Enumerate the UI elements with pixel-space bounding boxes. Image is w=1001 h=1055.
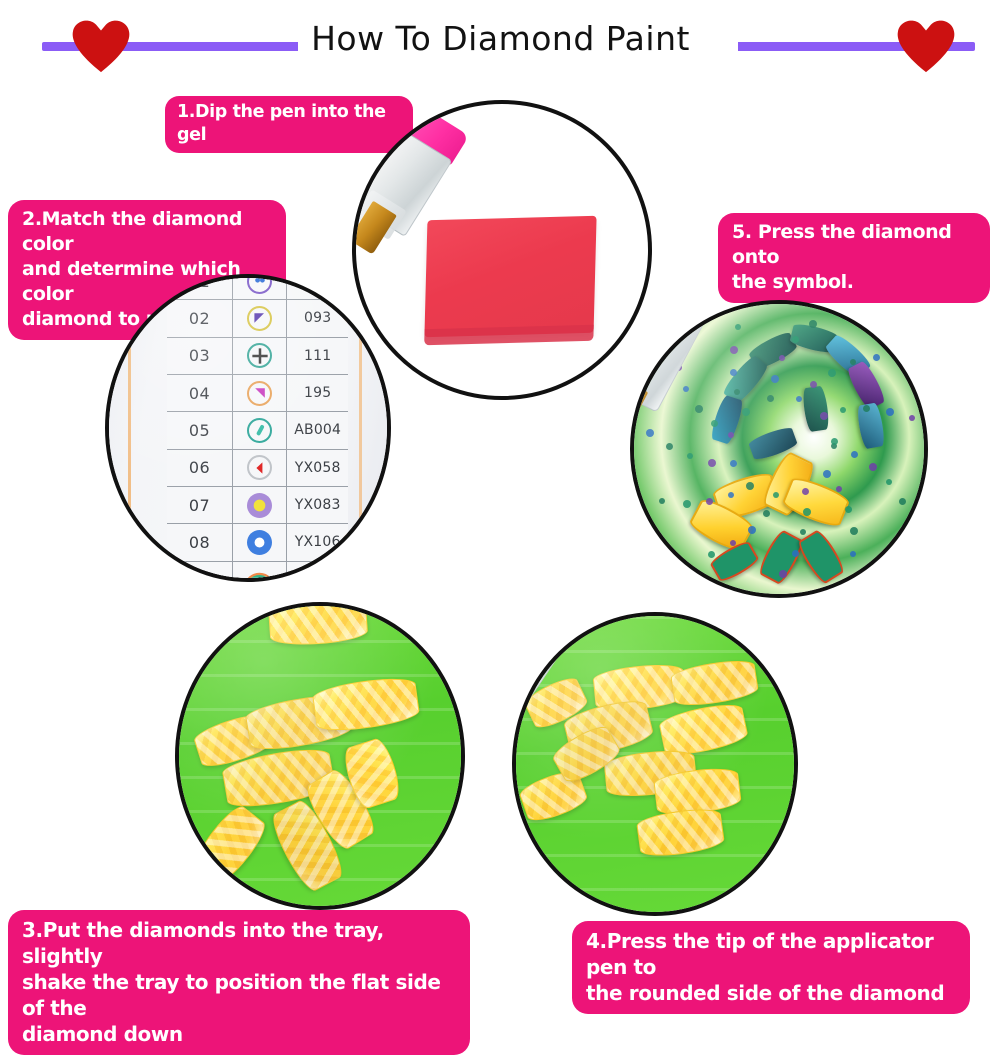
mandala-gem xyxy=(780,473,851,530)
triangle-symbol xyxy=(247,381,272,406)
printed-symbol-dot xyxy=(687,453,693,459)
gem-facets xyxy=(269,602,368,646)
printed-symbol-dot xyxy=(763,510,770,517)
printed-symbol-dot xyxy=(809,320,817,328)
printed-symbol-dot xyxy=(836,486,842,492)
printed-symbol-dot xyxy=(909,415,915,421)
printed-symbol-dot xyxy=(899,498,906,505)
printed-symbol-dot xyxy=(728,432,734,438)
gem-facets xyxy=(670,658,758,709)
printed-symbol-dot xyxy=(666,443,673,450)
printed-symbol-dot xyxy=(869,463,877,471)
printed-symbol-dot xyxy=(779,570,787,578)
printed-symbol-dot xyxy=(708,459,716,467)
printed-symbol-dot xyxy=(831,438,838,445)
diamond-gem xyxy=(669,657,760,710)
printed-symbol-dot xyxy=(840,407,846,413)
double-dot-symbol xyxy=(247,274,272,294)
printed-symbol-dot xyxy=(792,550,799,557)
chart-row-symbol-cell xyxy=(233,274,288,299)
chart-row-symbol-cell xyxy=(233,375,288,411)
printed-symbol-dot xyxy=(886,479,892,485)
chart-edge-right-2 xyxy=(359,278,362,578)
chart-row-number: 06 xyxy=(167,450,232,486)
photo-pen-picks-diamond xyxy=(512,612,798,916)
color-chart-row: 04195 xyxy=(167,375,348,412)
chart-row-symbol-cell xyxy=(233,524,288,560)
printed-symbol-dot xyxy=(851,451,858,458)
printed-symbol-dot xyxy=(771,375,779,383)
printed-symbol-dot xyxy=(730,346,738,354)
infographic-canvas: How To Diamond Paint 1.Dip the pen into … xyxy=(0,0,1001,1001)
chart-row-symbol-cell xyxy=(233,338,288,374)
printed-symbol-dot xyxy=(796,396,802,402)
color-chart-sheet: 0102002093031110419505AB00406YX05807YX08… xyxy=(109,278,387,578)
gem-facets xyxy=(313,675,420,734)
chart-row-number: 03 xyxy=(167,338,232,374)
diamond-tray xyxy=(179,606,461,906)
printed-symbol-dot xyxy=(708,551,715,558)
chart-row-number: 01 xyxy=(167,274,232,299)
chart-row-code: AB004 xyxy=(287,422,348,438)
chart-row-number: 05 xyxy=(167,412,232,448)
chart-row-code: YX106 xyxy=(287,534,348,550)
photo-pen-into-gel xyxy=(352,100,652,400)
color-chart-row: 01020 xyxy=(167,274,348,300)
chart-row-symbol-cell xyxy=(233,300,288,336)
printed-symbol-dot xyxy=(730,540,736,546)
mandala-gem xyxy=(801,385,830,431)
printed-symbol-dot xyxy=(683,500,691,508)
plus-symbol xyxy=(247,343,272,368)
printed-symbol-dot xyxy=(800,529,806,535)
color-chart-row: 07YX083 xyxy=(167,487,348,524)
chart-row-code: YX125 xyxy=(287,572,348,582)
mandala-gem xyxy=(855,402,885,449)
chart-row-code: YX058 xyxy=(287,460,348,476)
diamond-gem xyxy=(268,602,369,647)
color-chart-row: 06YX058 xyxy=(167,450,348,487)
diamond-gem xyxy=(190,801,271,887)
page-title: How To Diamond Paint xyxy=(0,17,1001,61)
chart-row-symbol-cell xyxy=(233,450,288,486)
printed-symbol-dot xyxy=(659,498,665,504)
gem-facets xyxy=(192,802,270,886)
ring-symbol xyxy=(247,530,272,555)
bullseye-symbol xyxy=(247,493,272,518)
color-chart-row: 05AB004 xyxy=(167,412,348,449)
printed-symbol-dot xyxy=(845,506,852,513)
photo-diamonds-in-tray xyxy=(175,602,465,910)
chart-row-code: 111 xyxy=(287,348,348,364)
color-chart-row: 09YX125 xyxy=(167,562,348,582)
gem-facets xyxy=(637,807,725,860)
color-chart-row: 02093 xyxy=(167,300,348,337)
color-chart-row: 08YX106 xyxy=(167,524,348,561)
diamond-gem xyxy=(312,674,421,735)
printed-symbol-dot xyxy=(779,355,785,361)
chart-row-code: 020 xyxy=(287,274,348,289)
slash-oval-symbol xyxy=(247,418,272,443)
chart-row-symbol-cell xyxy=(233,412,288,448)
printed-symbol-dot xyxy=(850,551,856,557)
printed-symbol-dot xyxy=(683,386,689,392)
photo-pen-into-gel-content xyxy=(356,104,648,396)
chart-row-number: 02 xyxy=(167,300,232,336)
printed-symbol-dot xyxy=(802,488,809,495)
photo-color-chart: 0102002093031110419505AB00406YX05807YX08… xyxy=(105,274,391,582)
printed-symbol-dot xyxy=(850,359,856,365)
printed-symbol-dot xyxy=(873,354,880,361)
printed-symbol-dot xyxy=(863,405,870,412)
leaf-symbol xyxy=(247,567,272,582)
chart-row-code: 195 xyxy=(287,385,348,401)
printed-symbol-dot xyxy=(886,408,894,416)
chart-row-number: 04 xyxy=(167,375,232,411)
step-5-label: 5. Press the diamond onto the symbol. xyxy=(718,213,990,303)
printed-symbol-dot xyxy=(695,405,703,413)
printed-symbol-dot xyxy=(748,526,756,534)
chart-edge-left xyxy=(128,278,131,578)
step-3-label: 3.Put the diamonds into the tray, slight… xyxy=(8,910,470,1055)
chart-row-symbol-cell xyxy=(233,487,288,523)
photo-diamond-onto-symbol xyxy=(630,300,928,598)
printed-symbol-dot xyxy=(823,470,831,478)
printed-symbol-dot xyxy=(828,369,836,377)
chart-row-symbol-cell xyxy=(233,562,288,582)
printed-symbol-dot xyxy=(735,324,741,330)
color-chart-row: 03111 xyxy=(167,338,348,375)
diamond-gem xyxy=(636,806,727,861)
mandala-gem xyxy=(795,528,847,587)
chart-row-code: YX083 xyxy=(287,497,348,513)
printed-symbol-dot xyxy=(767,395,774,402)
step-4-label: 4.Press the tip of the applicator pen to… xyxy=(572,921,970,1014)
chevron-symbol xyxy=(247,455,272,480)
printed-symbol-dot xyxy=(728,492,734,498)
chart-row-number: 08 xyxy=(167,524,232,560)
printed-symbol-dot xyxy=(742,408,750,416)
header-banner: How To Diamond Paint xyxy=(0,0,1001,82)
printed-symbol-dot xyxy=(730,460,737,467)
triangle-symbol xyxy=(247,306,272,331)
chart-row-code: 093 xyxy=(287,310,348,326)
color-chart-table: 0102002093031110419505AB00406YX05807YX08… xyxy=(167,274,348,582)
gem-facets xyxy=(658,701,748,759)
chart-row-number: 09 xyxy=(167,562,232,582)
chart-row-number: 07 xyxy=(167,487,232,523)
printed-symbol-dot xyxy=(850,527,858,535)
gel-pad xyxy=(424,216,597,337)
printed-symbol-dot xyxy=(730,369,737,376)
